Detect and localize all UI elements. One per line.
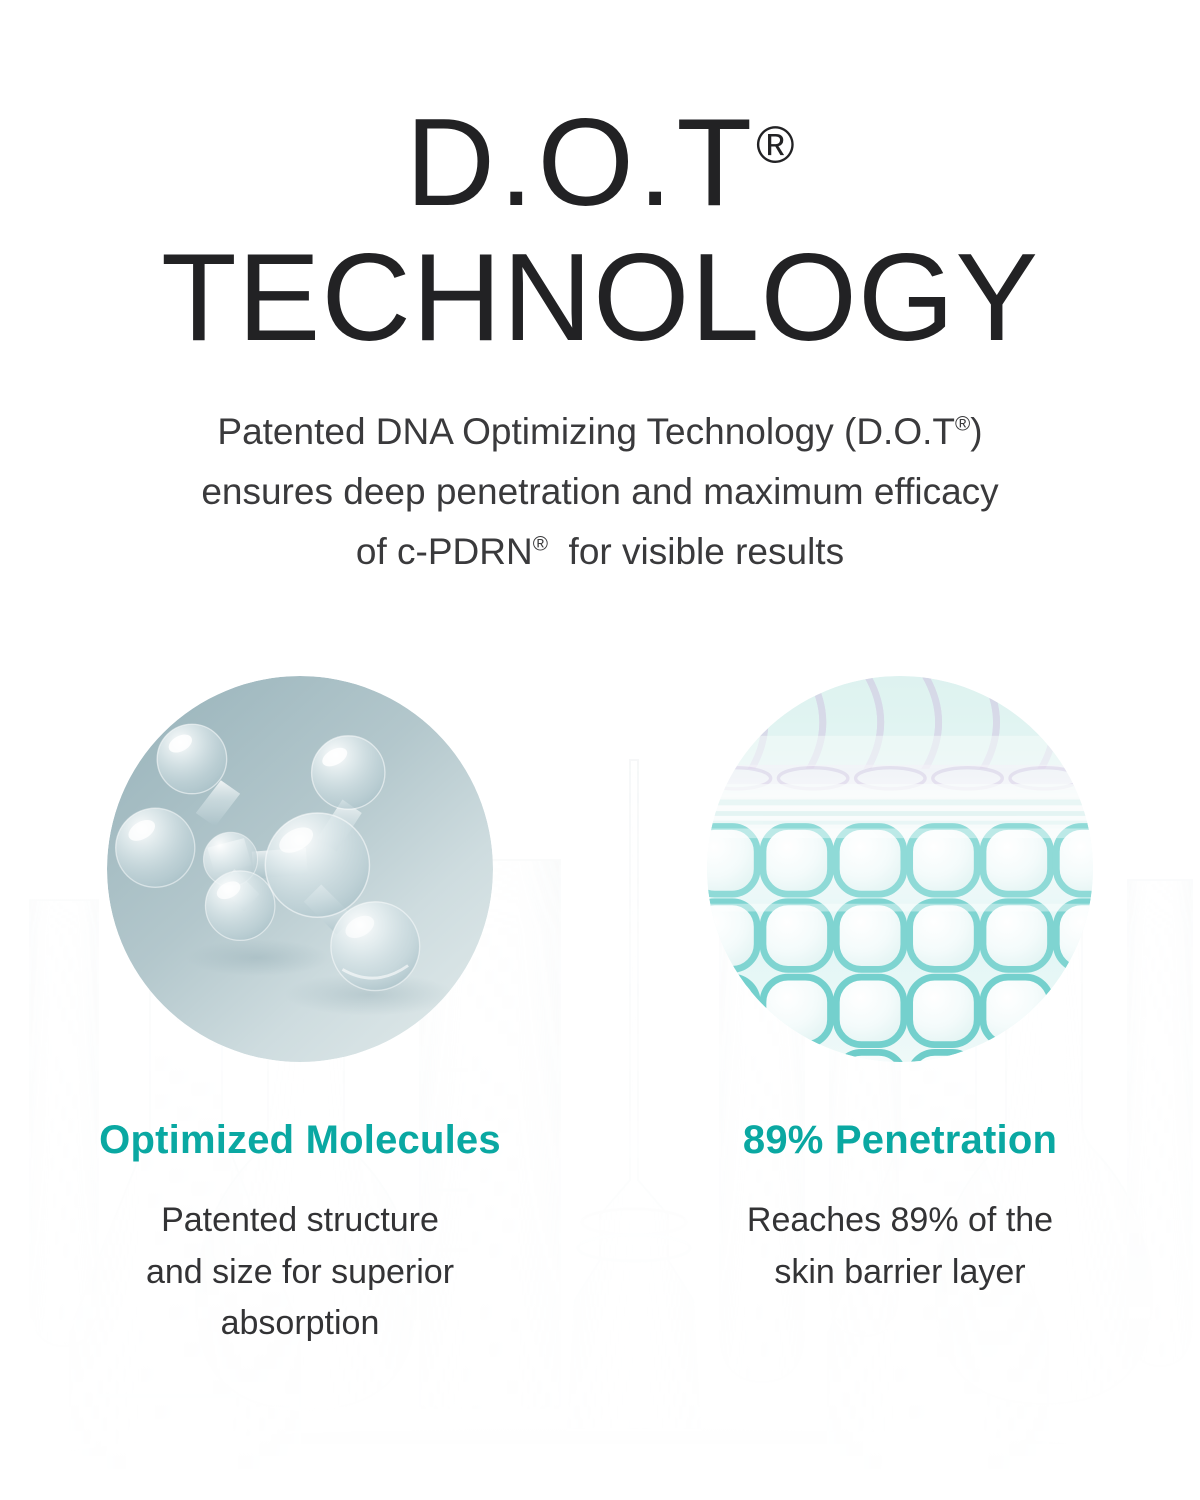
- feature-heading-penetration: 89% Penetration: [743, 1118, 1057, 1162]
- feature-body-line: and size for superior: [146, 1247, 454, 1299]
- subtitle-line-1-tail: ): [970, 411, 982, 452]
- dot-technology-infographic: D.O.T® TECHNOLOGY Patented DNA Optimizin…: [0, 0, 1200, 1500]
- registered-trademark-icon: ®: [756, 117, 794, 175]
- subtitle-line-3-text: of c-PDRN: [356, 531, 533, 572]
- feature-heading-optimized-molecules: Optimized Molecules: [99, 1118, 501, 1162]
- subtitle-line-1-text: Patented DNA Optimizing Technology (D.O.…: [217, 411, 955, 452]
- feature-columns: Optimized Molecules Patented structure a…: [0, 676, 1200, 1376]
- molecule-circle-image: [107, 676, 493, 1062]
- subtitle-line-2: ensures deep penetration and maximum eff…: [0, 462, 1200, 522]
- page-title-line-2: TECHNOLOGY: [0, 233, 1200, 364]
- registered-trademark-icon: ®: [533, 533, 548, 556]
- subtitle-line-1: Patented DNA Optimizing Technology (D.O.…: [0, 402, 1200, 462]
- feature-body-penetration: Reaches 89% of the skin barrier layer: [747, 1195, 1053, 1298]
- subtitle-line-3-tail: for visible results: [548, 531, 844, 572]
- page-title-main-text: D.O.T: [405, 94, 756, 232]
- page-title: D.O.T® TECHNOLOGY: [0, 98, 1200, 365]
- feature-body-optimized-molecules: Patented structure and size for superior…: [146, 1195, 454, 1350]
- registered-trademark-icon: ®: [955, 413, 970, 436]
- feature-column-penetration: 89% Penetration Reaches 89% of the skin …: [600, 676, 1200, 1376]
- skin-barrier-circle-image: [707, 676, 1093, 1062]
- subtitle-line-3: of c-PDRN® for visible results: [0, 522, 1200, 582]
- feature-body-line: Patented structure: [146, 1195, 454, 1247]
- feature-column-optimized-molecules: Optimized Molecules Patented structure a…: [0, 676, 600, 1376]
- page-title-line-1: D.O.T®: [0, 98, 1200, 229]
- feature-body-line: skin barrier layer: [747, 1247, 1053, 1299]
- page-subtitle: Patented DNA Optimizing Technology (D.O.…: [0, 402, 1200, 582]
- feature-body-line: absorption: [146, 1298, 454, 1350]
- feature-body-line: Reaches 89% of the: [747, 1195, 1053, 1247]
